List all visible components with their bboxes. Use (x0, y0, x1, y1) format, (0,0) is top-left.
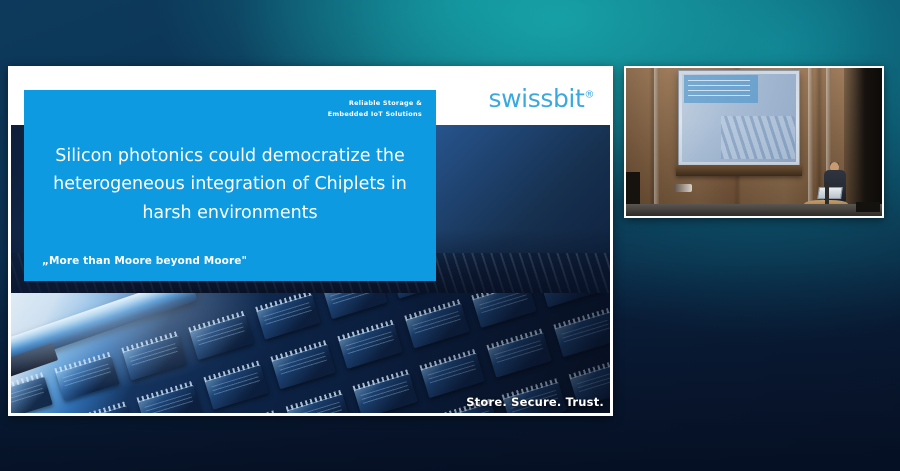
presentation-stage: swissbit® (0, 0, 900, 471)
brand-claim: Store. Secure. Trust. (466, 395, 604, 409)
brand-tagline: Reliable Storage & Embedded IoT Solution… (328, 98, 422, 119)
chip (287, 393, 351, 413)
wall-object (674, 184, 692, 192)
chip (406, 303, 470, 349)
chip (354, 373, 418, 413)
chip (256, 294, 320, 340)
laptop (817, 187, 843, 199)
chip (555, 312, 610, 358)
chip (323, 293, 387, 319)
chip (472, 293, 536, 328)
left-dark-object (626, 172, 640, 206)
chip (390, 293, 454, 299)
wall-rail (654, 68, 659, 216)
tagline-line-2: Embedded IoT Solutions (328, 109, 422, 120)
registered-mark-icon: ® (584, 90, 594, 101)
brand-logo-text: swissbit (489, 84, 585, 113)
tagline-line-1: Reliable Storage & (328, 98, 422, 109)
webcam-video (626, 68, 882, 216)
slide-title: Silicon photonics could democratize the … (24, 142, 436, 227)
chip (190, 314, 254, 360)
chip (339, 323, 403, 369)
wall-rail (808, 68, 813, 216)
screen-ledge (676, 165, 802, 176)
stage-curtain (844, 68, 882, 216)
loudspeaker-box (856, 202, 880, 212)
title-block: Reliable Storage & Embedded IoT Solution… (24, 90, 436, 281)
chip (71, 405, 135, 413)
chip (585, 411, 610, 413)
chip (56, 355, 120, 401)
projected-chips-photo (721, 116, 795, 159)
slide-inner: swissbit® (11, 69, 610, 413)
floor (626, 204, 882, 216)
chip (539, 293, 603, 308)
chip (272, 344, 336, 390)
chip (205, 364, 269, 410)
chip (488, 332, 552, 378)
chip (11, 376, 53, 413)
projected-title-lines (688, 80, 750, 97)
projection-screen (678, 70, 800, 166)
chip (123, 335, 187, 381)
slide-subtitle: „More than Moore beyond Moore" (42, 255, 247, 267)
chip (138, 385, 202, 413)
speaker-webcam-panel[interactable] (624, 66, 884, 218)
slide-panel[interactable]: swissbit® (8, 66, 613, 416)
swissbit-logo: swissbit® (489, 86, 595, 111)
chip (421, 353, 485, 399)
